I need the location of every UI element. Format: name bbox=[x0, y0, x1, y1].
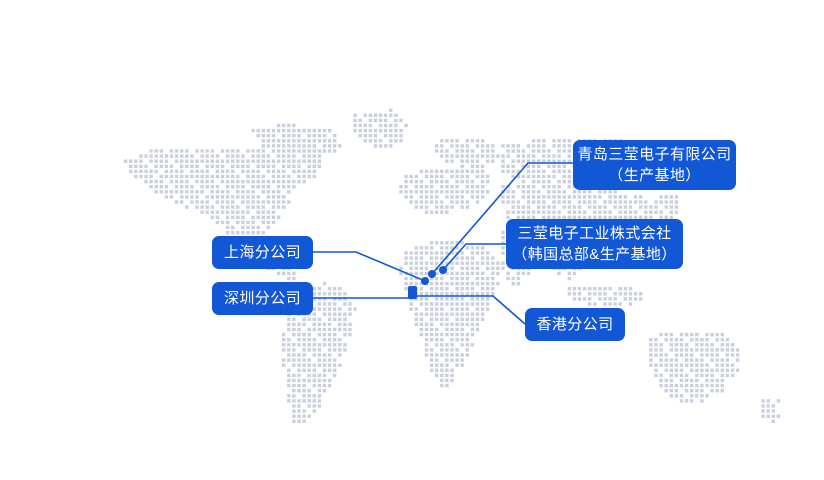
marker-shanghai[interactable] bbox=[421, 277, 429, 285]
connector-shanghai bbox=[313, 252, 425, 281]
label-qingdao[interactable]: 青岛三莹电子有限公司 （生产基地） bbox=[573, 140, 736, 190]
label-shenzhen-line-1: 深圳分公司 bbox=[224, 288, 301, 309]
label-shenzhen[interactable]: 深圳分公司 bbox=[212, 282, 313, 315]
label-shanghai-line-1: 上海分公司 bbox=[224, 242, 301, 263]
label-hongkong-line-1: 香港分公司 bbox=[537, 314, 614, 335]
marker-korea[interactable] bbox=[439, 266, 447, 274]
connector-hongkong bbox=[414, 296, 525, 324]
connector-korea bbox=[443, 244, 506, 270]
label-qingdao-line-2: （生产基地） bbox=[608, 165, 700, 186]
label-qingdao-line-1: 青岛三莹电子有限公司 bbox=[578, 144, 732, 165]
marker-qingdao[interactable] bbox=[428, 270, 436, 278]
connector-lines bbox=[0, 0, 824, 480]
label-korea-line-2: （韩国总部&生产基地） bbox=[512, 244, 676, 265]
label-shanghai[interactable]: 上海分公司 bbox=[212, 236, 313, 269]
label-korea-line-1: 三莹电子工业株式会社 bbox=[518, 223, 672, 244]
world-map-infographic: 青岛三莹电子有限公司 （生产基地） 三莹电子工业株式会社 （韩国总部&生产基地）… bbox=[0, 0, 824, 480]
marker-shenzhen[interactable] bbox=[408, 286, 417, 299]
label-hongkong[interactable]: 香港分公司 bbox=[525, 308, 625, 341]
label-korea[interactable]: 三莹电子工业株式会社 （韩国总部&生产基地） bbox=[506, 219, 683, 269]
